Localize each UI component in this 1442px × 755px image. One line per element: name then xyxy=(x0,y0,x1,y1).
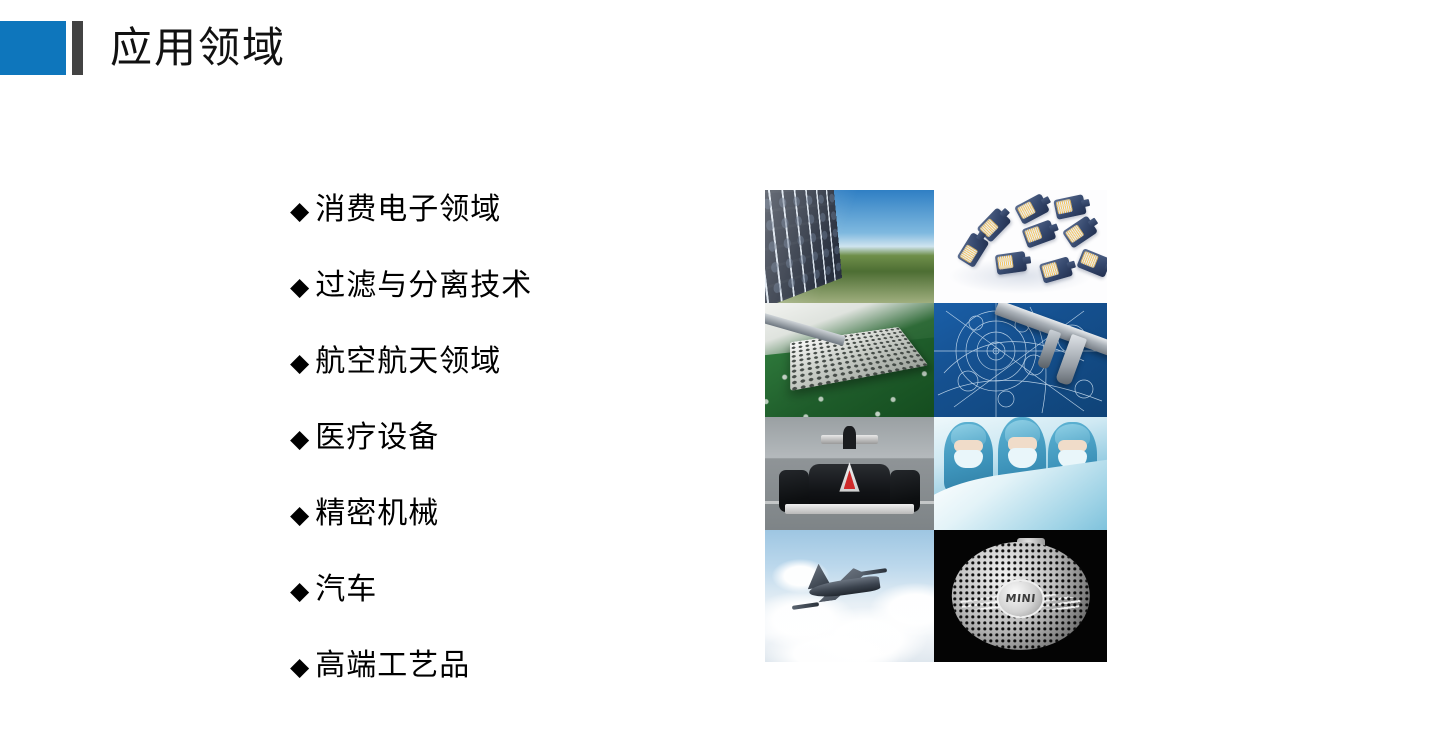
diamond-bullet-icon: ◆ xyxy=(290,502,309,527)
list-item-label: 消费电子领域 xyxy=(315,195,501,225)
list-item: ◆ 消费电子领域 xyxy=(290,172,710,248)
diamond-bullet-icon: ◆ xyxy=(290,578,309,603)
list-item-label: 高端工艺品 xyxy=(315,651,470,681)
formula-one-race-car-image xyxy=(765,417,934,530)
diamond-bullet-icon: ◆ xyxy=(290,654,309,679)
list-item-label: 航空航天领域 xyxy=(315,347,501,377)
diamond-bullet-icon: ◆ xyxy=(290,426,309,451)
list-item: ◆ 高端工艺品 xyxy=(290,628,710,704)
solar-panel-array-image xyxy=(765,190,934,303)
dark-vertical-bar-decoration-icon xyxy=(72,21,83,75)
list-item: ◆ 过滤与分离技术 xyxy=(290,248,710,324)
application-image-collage: MINI xyxy=(765,190,1107,662)
solar-glare xyxy=(765,190,934,303)
mini-perforated-speaker-grille-image: MINI xyxy=(934,530,1107,662)
diamond-bullet-icon: ◆ xyxy=(290,274,309,299)
diamond-bullet-icon: ◆ xyxy=(290,350,309,375)
front-wing xyxy=(785,504,913,514)
list-item-label: 汽车 xyxy=(315,575,377,605)
rj45-plug xyxy=(1021,219,1056,248)
page-title: 应用领域 xyxy=(110,21,286,75)
diamond-bullet-icon: ◆ xyxy=(290,198,309,223)
list-item: ◆ 航空航天领域 xyxy=(290,324,710,400)
list-item: ◆ 汽车 xyxy=(290,552,710,628)
rj45-plug xyxy=(1062,215,1098,248)
list-item-label: 过滤与分离技术 xyxy=(315,271,532,301)
mini-logo-text: MINI xyxy=(1005,592,1037,605)
list-item: ◆ 医疗设备 xyxy=(290,400,710,476)
jet-missile xyxy=(859,568,886,576)
list-item-label: 精密机械 xyxy=(315,499,439,529)
list-item-label: 医疗设备 xyxy=(315,423,439,453)
surgeons-in-operating-room-image xyxy=(934,417,1107,530)
surgical-mask xyxy=(954,450,983,468)
slide-header: 应用领域 xyxy=(0,0,1442,100)
engine-airbox xyxy=(843,426,857,449)
perforated-metal-shield-on-circuit-board-image xyxy=(765,303,934,417)
surgical-mask xyxy=(1008,448,1037,468)
rj45-plug xyxy=(1053,194,1087,220)
rj45-network-connectors-image xyxy=(934,190,1107,303)
engineering-blueprint-with-caliper-image xyxy=(934,303,1107,417)
fighter-jet-above-clouds-image xyxy=(765,530,934,662)
blue-square-decoration-icon xyxy=(0,21,66,75)
list-item: ◆ 精密机械 xyxy=(290,476,710,552)
application-areas-list: ◆ 消费电子领域 ◆ 过滤与分离技术 ◆ 航空航天领域 ◆ 医疗设备 ◆ 精密机… xyxy=(290,172,710,704)
mini-logo-badge: MINI xyxy=(996,579,1045,619)
